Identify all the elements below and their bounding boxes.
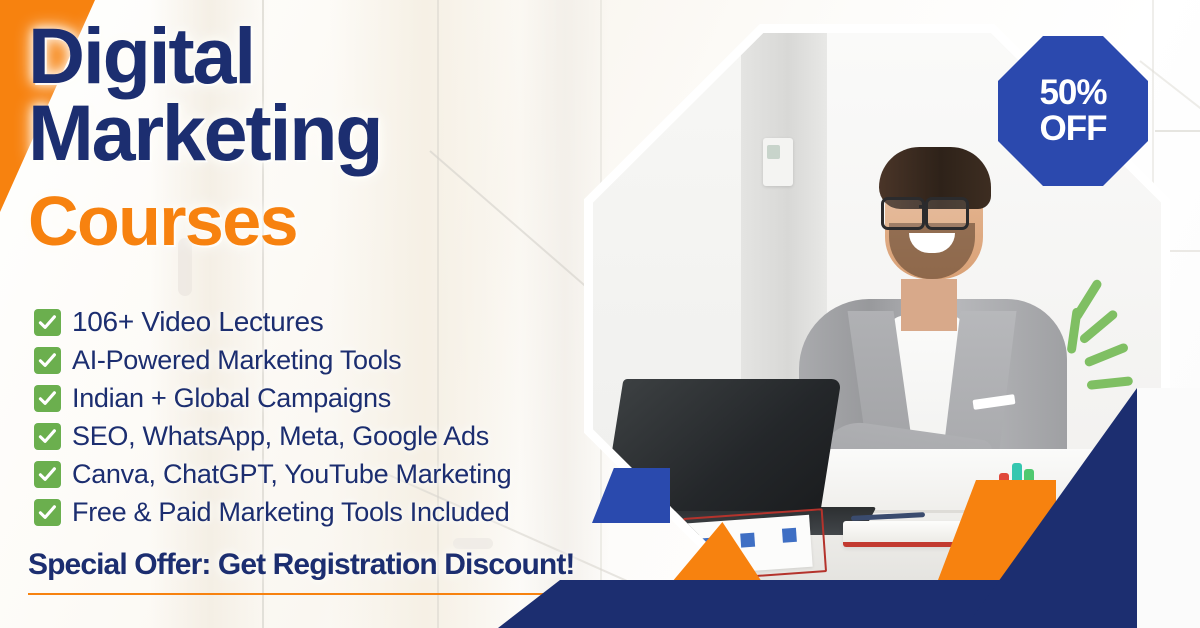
headline-line-2: Marketing <box>28 95 588 170</box>
list-item-label: Canva, ChatGPT, YouTube Marketing <box>72 459 511 490</box>
list-item: SEO, WhatsApp, Meta, Google Ads <box>34 417 619 455</box>
background-shelf-line <box>1155 130 1200 132</box>
page-title: Digital Marketing Courses <box>28 18 588 256</box>
discount-percent: 50% <box>1039 75 1106 111</box>
photo-plant-leaf <box>1087 376 1134 390</box>
list-item-label: Free & Paid Marketing Tools Included <box>72 497 509 528</box>
check-icon <box>34 499 61 526</box>
check-icon <box>34 309 61 336</box>
glasses-icon <box>925 197 969 230</box>
promo-banner: Digital Marketing Courses 106+ Video Lec… <box>0 0 1200 628</box>
discount-badge[interactable]: 50% OFF <box>998 36 1148 186</box>
photo-person-neck <box>901 279 957 331</box>
check-icon <box>34 423 61 450</box>
feature-list: 106+ Video Lectures AI-Powered Marketing… <box>34 303 619 531</box>
headline-line-1: Digital <box>28 18 588 93</box>
white-right-edge <box>1137 388 1200 628</box>
list-item: AI-Powered Marketing Tools <box>34 341 619 379</box>
list-item: Free & Paid Marketing Tools Included <box>34 493 619 531</box>
list-item: Indian + Global Campaigns <box>34 379 619 417</box>
check-icon <box>34 347 61 374</box>
list-item: Canva, ChatGPT, YouTube Marketing <box>34 455 619 493</box>
list-item: 106+ Video Lectures <box>34 303 619 341</box>
photo-plant-leaf <box>1083 342 1129 368</box>
list-item-label: SEO, WhatsApp, Meta, Google Ads <box>72 421 489 452</box>
list-item-label: Indian + Global Campaigns <box>72 383 391 414</box>
photo-glasses-bridge <box>919 205 927 208</box>
headline-line-3: Courses <box>28 186 588 256</box>
list-item-label: 106+ Video Lectures <box>72 306 323 338</box>
special-offer-text: Special Offer: Get Registration Discount… <box>28 548 668 582</box>
glasses-icon <box>881 197 925 230</box>
check-icon <box>34 385 61 412</box>
discount-label: OFF <box>1040 111 1107 147</box>
list-item-label: AI-Powered Marketing Tools <box>72 345 401 376</box>
check-icon <box>34 461 61 488</box>
